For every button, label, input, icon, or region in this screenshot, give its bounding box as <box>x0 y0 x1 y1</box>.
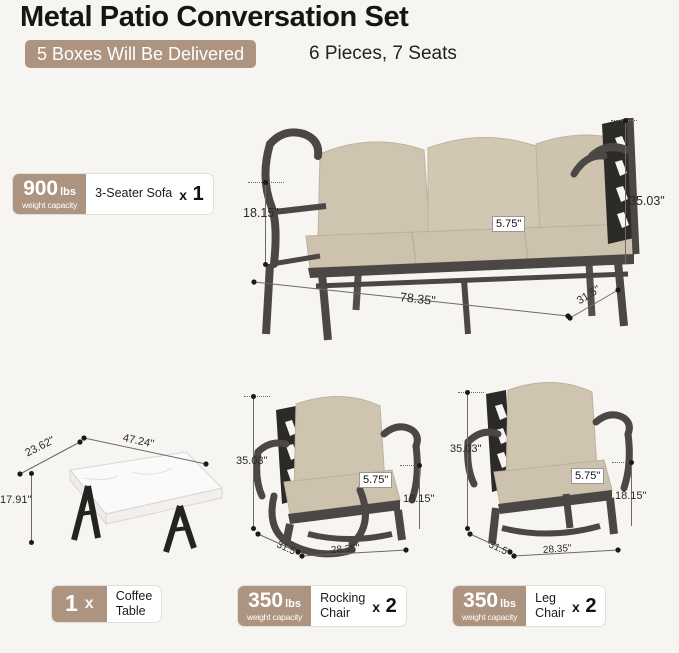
leg-chair-name-block: Leg Chair x 2 <box>526 586 605 626</box>
leg-chair-multiplier: x 2 <box>572 596 596 616</box>
rocking-chair-height-label: 35.03" <box>236 455 267 467</box>
sofa-height-label: 35.03" <box>629 194 665 208</box>
leg-chair-capacity-label: weight capacity <box>462 613 517 622</box>
rocking-chair-capacity-unit: lbs <box>285 599 301 610</box>
rocking-chair-name-line2: Chair <box>320 606 350 620</box>
sofa-capacity-unit: lbs <box>60 187 76 198</box>
coffee-table-count-block: 1 x <box>52 586 107 622</box>
leg-chair-multiplier-count: 2 <box>585 595 596 617</box>
rocking-chair-seat-height-cap <box>417 463 422 468</box>
sofa-capacity-label: weight capacity <box>22 201 77 210</box>
page-title: Metal Patio Conversation Set <box>20 1 408 34</box>
sofa-seat-height-label: 18.15" <box>243 206 279 220</box>
sofa-capacity-value: 900 <box>23 178 58 199</box>
rocking-chair-seat-height-label: 18.15" <box>403 493 434 505</box>
leg-chair-name-line2: Chair <box>535 606 565 620</box>
leg-chair-seat-height-label: 18.15" <box>615 490 646 502</box>
rocking-chair-spec-pill: 350 lbs weight capacity Rocking Chair x … <box>238 586 406 626</box>
rocking-chair-capacity-value: 350 <box>248 590 283 611</box>
leg-chair-capacity-unit: lbs <box>500 599 516 610</box>
leg-chair-cushion-thickness-label: 5.75" <box>571 468 604 484</box>
leg-chair-illustration <box>462 368 642 548</box>
leg-chair-spec-pill: 350 lbs weight capacity Leg Chair x 2 <box>453 586 605 626</box>
rocking-chair-capacity-label: weight capacity <box>247 613 302 622</box>
sofa-height-cap-top <box>623 118 628 123</box>
sofa-spec-pill: 900 lbs weight capacity 3-Seater Sofa x … <box>13 174 213 214</box>
leg-chair-height-cap-top <box>465 390 470 395</box>
coffee-table-height-cap-top <box>29 471 34 476</box>
coffee-table-spec-pill: 1 x Coffee Table <box>52 586 161 622</box>
coffee-table-height-cap-bottom <box>29 540 34 545</box>
sofa-capacity-block: 900 lbs weight capacity <box>13 174 86 214</box>
rocking-chair-width-label: 28.35" <box>331 543 360 556</box>
rocking-chair-name: Rocking Chair <box>320 591 365 621</box>
coffee-table-name: Coffee Table <box>116 589 153 619</box>
leg-chair-name-line1: Leg <box>535 591 556 605</box>
leg-chair-width-label: 28.35" <box>543 543 572 556</box>
coffee-table-name-block: Coffee Table <box>107 586 162 622</box>
sofa-seat-height-cap-bottom <box>263 262 268 267</box>
rocking-chair-height-tick <box>244 396 270 397</box>
rocking-chair-name-block: Rocking Chair x 2 <box>311 586 406 626</box>
sofa-multiplier-x: x <box>179 187 187 203</box>
coffee-table-height-label: 17.91" <box>0 494 31 506</box>
coffee-table-count: 1 <box>65 592 78 615</box>
sofa-name: 3-Seater Sofa <box>95 186 172 201</box>
sofa-seat-height-cap-top <box>263 180 268 185</box>
leg-chair-height-label: 35.03" <box>450 443 481 455</box>
leg-chair-capacity-value: 350 <box>463 590 498 611</box>
rocking-chair-name-line1: Rocking <box>320 591 365 605</box>
rocking-chair-multiplier-count: 2 <box>386 595 397 617</box>
sofa-multiplier-count: 1 <box>193 183 204 205</box>
rocking-chair-multiplier: x 2 <box>372 596 396 616</box>
coffee-table-height-line <box>31 474 32 542</box>
leg-chair-multiplier-x: x <box>572 599 580 615</box>
sofa-seat-height-line <box>265 184 266 264</box>
leg-chair-height-tick <box>458 392 484 393</box>
sofa-multiplier: x 1 <box>179 184 203 204</box>
rocking-chair-height-cap-top <box>251 394 256 399</box>
infographic-canvas: Metal Patio Conversation Set 5 Boxes Wil… <box>0 0 679 653</box>
sofa-height-line <box>625 122 626 264</box>
coffee-table-name-line2: Table <box>116 604 146 618</box>
sofa-cushion-thickness-label: 5.75" <box>492 216 525 232</box>
sofa-name-block: 3-Seater Sofa x 1 <box>86 174 213 214</box>
leg-chair-capacity-block: 350 lbs weight capacity <box>453 586 526 626</box>
coffee-table-multiplier-x: x <box>85 596 94 612</box>
leg-chair-seat-height-cap <box>629 460 634 465</box>
coffee-table-name-line1: Coffee <box>116 589 153 603</box>
pieces-seats-subtitle: 6 Pieces, 7 Seats <box>309 40 457 68</box>
rocking-chair-illustration <box>250 368 430 548</box>
delivery-boxes-badge: 5 Boxes Will Be Delivered <box>25 40 256 68</box>
leg-chair-name: Leg Chair <box>535 591 565 621</box>
rocking-chair-cushion-thickness-label: 5.75" <box>359 472 392 488</box>
leg-chair-height-line <box>467 394 468 528</box>
rocking-chair-capacity-block: 350 lbs weight capacity <box>238 586 311 626</box>
rocking-chair-multiplier-x: x <box>372 599 380 615</box>
